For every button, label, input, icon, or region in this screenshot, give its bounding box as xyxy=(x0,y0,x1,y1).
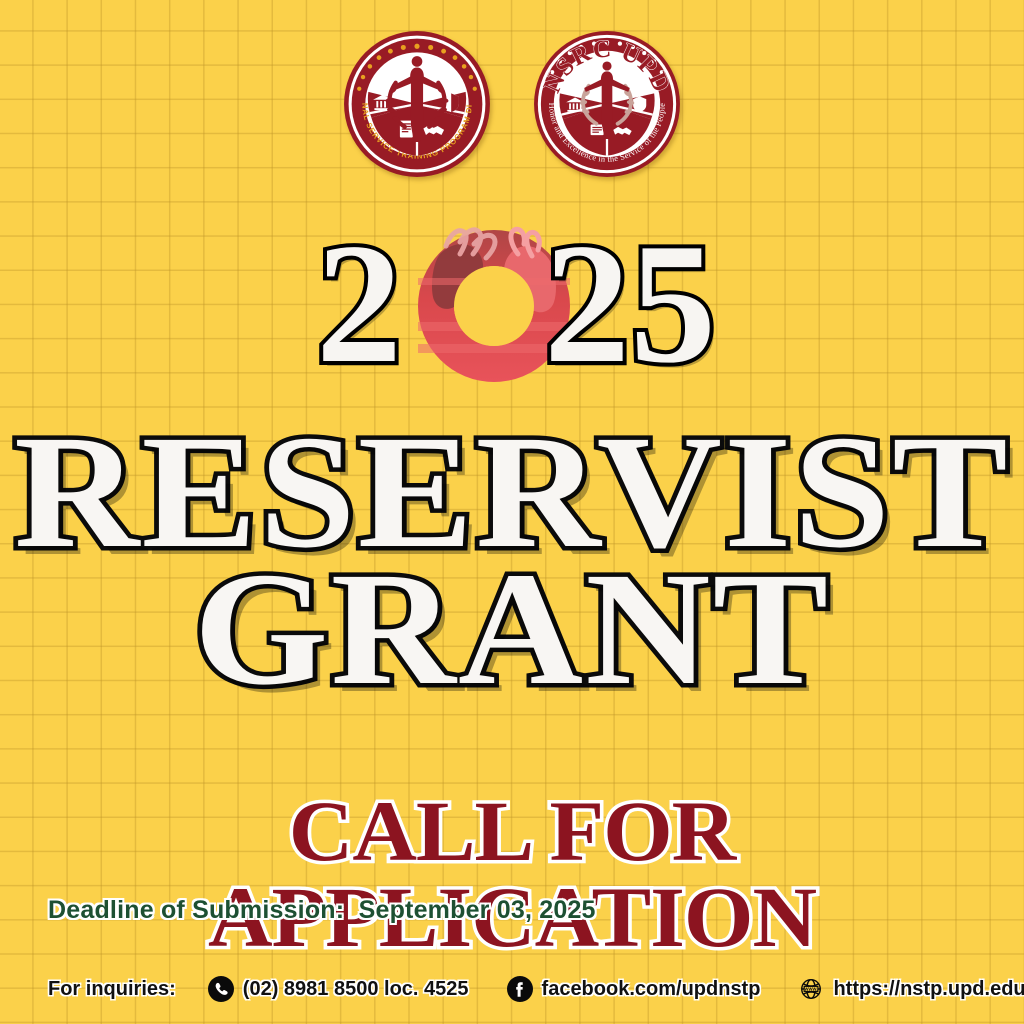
contact-bar: For inquiries: (02) 8981 8500 loc. 4525 … xyxy=(0,954,1024,1024)
phone-text: (02) 8981 8500 loc. 4525 xyxy=(243,978,469,1001)
globe-www-icon: WWW. xyxy=(798,976,824,1002)
website-text: https://nstp.upd.edu.ph xyxy=(833,978,1024,1001)
deadline-text: Deadline of Submission: September 03, 20… xyxy=(48,896,596,925)
call-for-application-banner: CALL FOR APPLICATION xyxy=(0,788,1024,960)
phone-icon xyxy=(208,976,234,1002)
year-last-digits: 25 xyxy=(544,214,716,394)
poster-canvas: NATIONAL SERVICE TRAINING PROGRAM DILIMA… xyxy=(0,0,1024,1024)
contact-facebook[interactable]: facebook.com/updnstp xyxy=(507,976,761,1002)
logo-row: NATIONAL SERVICE TRAINING PROGRAM DILIMA… xyxy=(0,28,1024,180)
nsrc-upd-seal: Honor and Excellence in the Service of t… xyxy=(531,28,683,180)
nstp-diliman-seal: NATIONAL SERVICE TRAINING PROGRAM DILIMA… xyxy=(341,28,493,180)
contact-website[interactable]: WWW. https://nstp.upd.edu.ph xyxy=(798,976,1024,1002)
for-inquiries-label: For inquiries: xyxy=(48,978,176,1001)
svg-text:WWW.: WWW. xyxy=(805,986,818,991)
year-first-digit: 2 xyxy=(316,214,402,394)
facebook-icon xyxy=(507,976,533,1002)
page-title: RESERVIST GRANT xyxy=(0,418,1024,705)
contact-phone[interactable]: (02) 8981 8500 loc. 4525 xyxy=(208,976,469,1002)
facebook-text: facebook.com/updnstp xyxy=(542,978,761,1001)
year-block: 2 xyxy=(0,214,1024,394)
title-line-2: GRANT xyxy=(0,555,1024,706)
